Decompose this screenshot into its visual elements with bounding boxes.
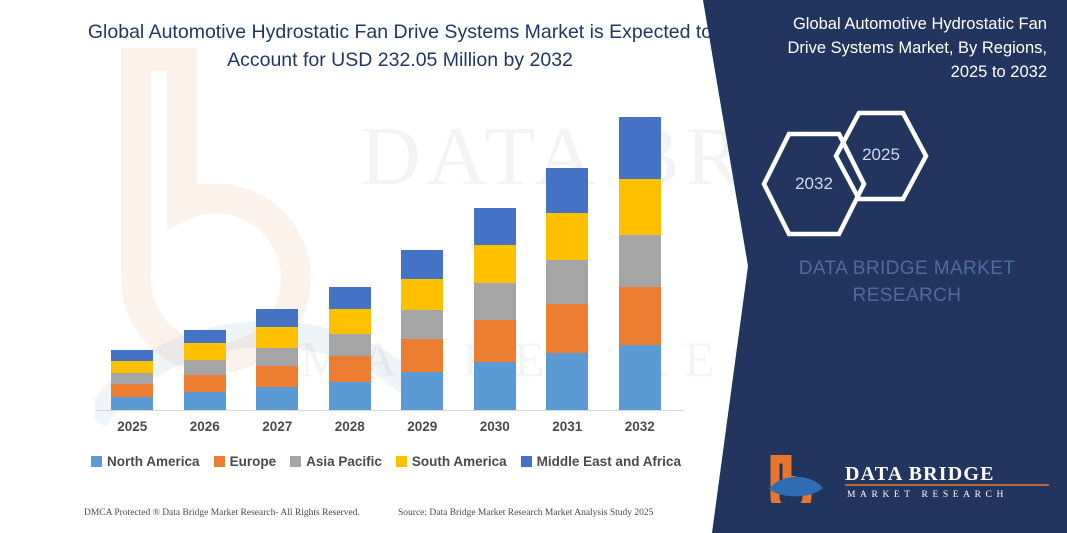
- chart-legend: North AmericaEuropeAsia PacificSouth Ame…: [96, 454, 676, 469]
- chart-panel: DATA BRIDGE MARKET RESEARCH Global Autom…: [0, 0, 760, 533]
- axis-baseline: [96, 410, 684, 411]
- x-axis-tick-2028: 2028: [316, 419, 384, 434]
- bar-segment: [329, 334, 371, 357]
- bar-segment: [619, 287, 661, 345]
- legend-swatch-icon: [396, 456, 407, 467]
- footer-source: Source: Data Bridge Market Research Mark…: [398, 508, 653, 518]
- legend-item[interactable]: Middle East and Africa: [521, 454, 681, 469]
- legend-item[interactable]: North America: [91, 454, 200, 469]
- bar-segment: [256, 366, 298, 387]
- bar-segment: [184, 343, 226, 359]
- x-axis-tick-2030: 2030: [461, 419, 529, 434]
- bar-segment: [401, 339, 443, 372]
- x-axis-tick-2031: 2031: [533, 419, 601, 434]
- bar-group-2025: [98, 350, 166, 411]
- bar-group-2029: [388, 250, 456, 411]
- legend-item[interactable]: Asia Pacific: [290, 454, 382, 469]
- bar-segment: [111, 350, 153, 361]
- bar-segment: [546, 304, 588, 353]
- bar-segment: [111, 384, 153, 397]
- bar-segment: [619, 235, 661, 286]
- logo-primary-text: DATA BRIDGE: [845, 463, 995, 485]
- x-axis-tick-2026: 2026: [171, 419, 239, 434]
- x-axis-tick-2029: 2029: [388, 419, 456, 434]
- bar-group-2026: [171, 330, 239, 411]
- bar-segment: [474, 208, 516, 244]
- bar-segment: [401, 310, 443, 339]
- bar-segment: [619, 179, 661, 235]
- bar-segment: [111, 361, 153, 374]
- bar-segment: [256, 327, 298, 347]
- legend-label: Asia Pacific: [306, 454, 382, 469]
- bar-group-2030: [461, 208, 529, 411]
- chart-title: Global Automotive Hydrostatic Fan Drive …: [60, 18, 740, 74]
- legend-item[interactable]: Europe: [214, 454, 277, 469]
- data-bridge-logo: DATA BRIDGE MARKET RESEARCH: [767, 455, 1057, 503]
- bar-group-2032: [606, 117, 674, 411]
- right-panel-content: Global Automotive Hydrostatic Fan Drive …: [747, 0, 1067, 533]
- bar-segment: [619, 117, 661, 179]
- bar-segment: [546, 168, 588, 213]
- bar-segment: [546, 260, 588, 304]
- legend-swatch-icon: [290, 456, 301, 467]
- bar-segment: [111, 397, 153, 411]
- plot-area: [96, 100, 676, 411]
- bar-segment: [184, 330, 226, 344]
- bar-segment: [256, 387, 298, 411]
- hexagon-2025-label: 2025: [831, 145, 931, 165]
- x-axis-tick-2032: 2032: [606, 419, 674, 434]
- bar-segment: [619, 345, 661, 411]
- bar-group-2031: [533, 168, 601, 411]
- bar-group-2027: [243, 309, 311, 411]
- legend-item[interactable]: South America: [396, 454, 507, 469]
- logo-secondary-text: MARKET RESEARCH: [847, 490, 1008, 500]
- bar-segment: [184, 360, 226, 375]
- legend-swatch-icon: [521, 456, 532, 467]
- panel-watermark-line2: RESEARCH: [747, 282, 1067, 309]
- legend-label: North America: [107, 454, 200, 469]
- bar-segment: [546, 213, 588, 260]
- bar-segment: [474, 283, 516, 319]
- bar-segment: [329, 382, 371, 411]
- x-axis-tick-2027: 2027: [243, 419, 311, 434]
- bar-segment: [401, 279, 443, 310]
- legend-label: South America: [412, 454, 507, 469]
- legend-swatch-icon: [214, 456, 225, 467]
- bar-segment: [474, 320, 516, 362]
- legend-label: Europe: [230, 454, 277, 469]
- panel-watermark-text: DATA BRIDGE MARKET RESEARCH: [747, 255, 1067, 309]
- bar-segment: [546, 353, 588, 411]
- legend-swatch-icon: [91, 456, 102, 467]
- bar-segment: [401, 250, 443, 279]
- legend-label: Middle East and Africa: [537, 454, 681, 469]
- bar-segment: [184, 392, 226, 411]
- panel-watermark-line1: DATA BRIDGE MARKET: [747, 255, 1067, 282]
- x-axis-tick-2025: 2025: [98, 419, 166, 434]
- footer-copyright: DMCA Protected ® Data Bridge Market Rese…: [84, 508, 360, 518]
- logo-mark-icon: [769, 459, 823, 503]
- bar-segment: [111, 373, 153, 384]
- x-axis-labels: 20252026202720282029203020312032: [96, 419, 676, 443]
- bar-segment: [329, 356, 371, 382]
- panel-title: Global Automotive Hydrostatic Fan Drive …: [752, 12, 1047, 84]
- bar-segment: [329, 309, 371, 334]
- bar-group-2028: [316, 287, 384, 411]
- bar-segment: [474, 245, 516, 284]
- bar-segment: [329, 287, 371, 310]
- bar-segment: [401, 372, 443, 411]
- bar-segment: [184, 375, 226, 392]
- bar-segment: [474, 362, 516, 411]
- bar-segment: [256, 309, 298, 327]
- bar-segment: [256, 348, 298, 366]
- infographic-root: DATA BRIDGE MARKET RESEARCH Global Autom…: [0, 0, 1067, 533]
- hexagon-2025: 2025: [831, 108, 931, 209]
